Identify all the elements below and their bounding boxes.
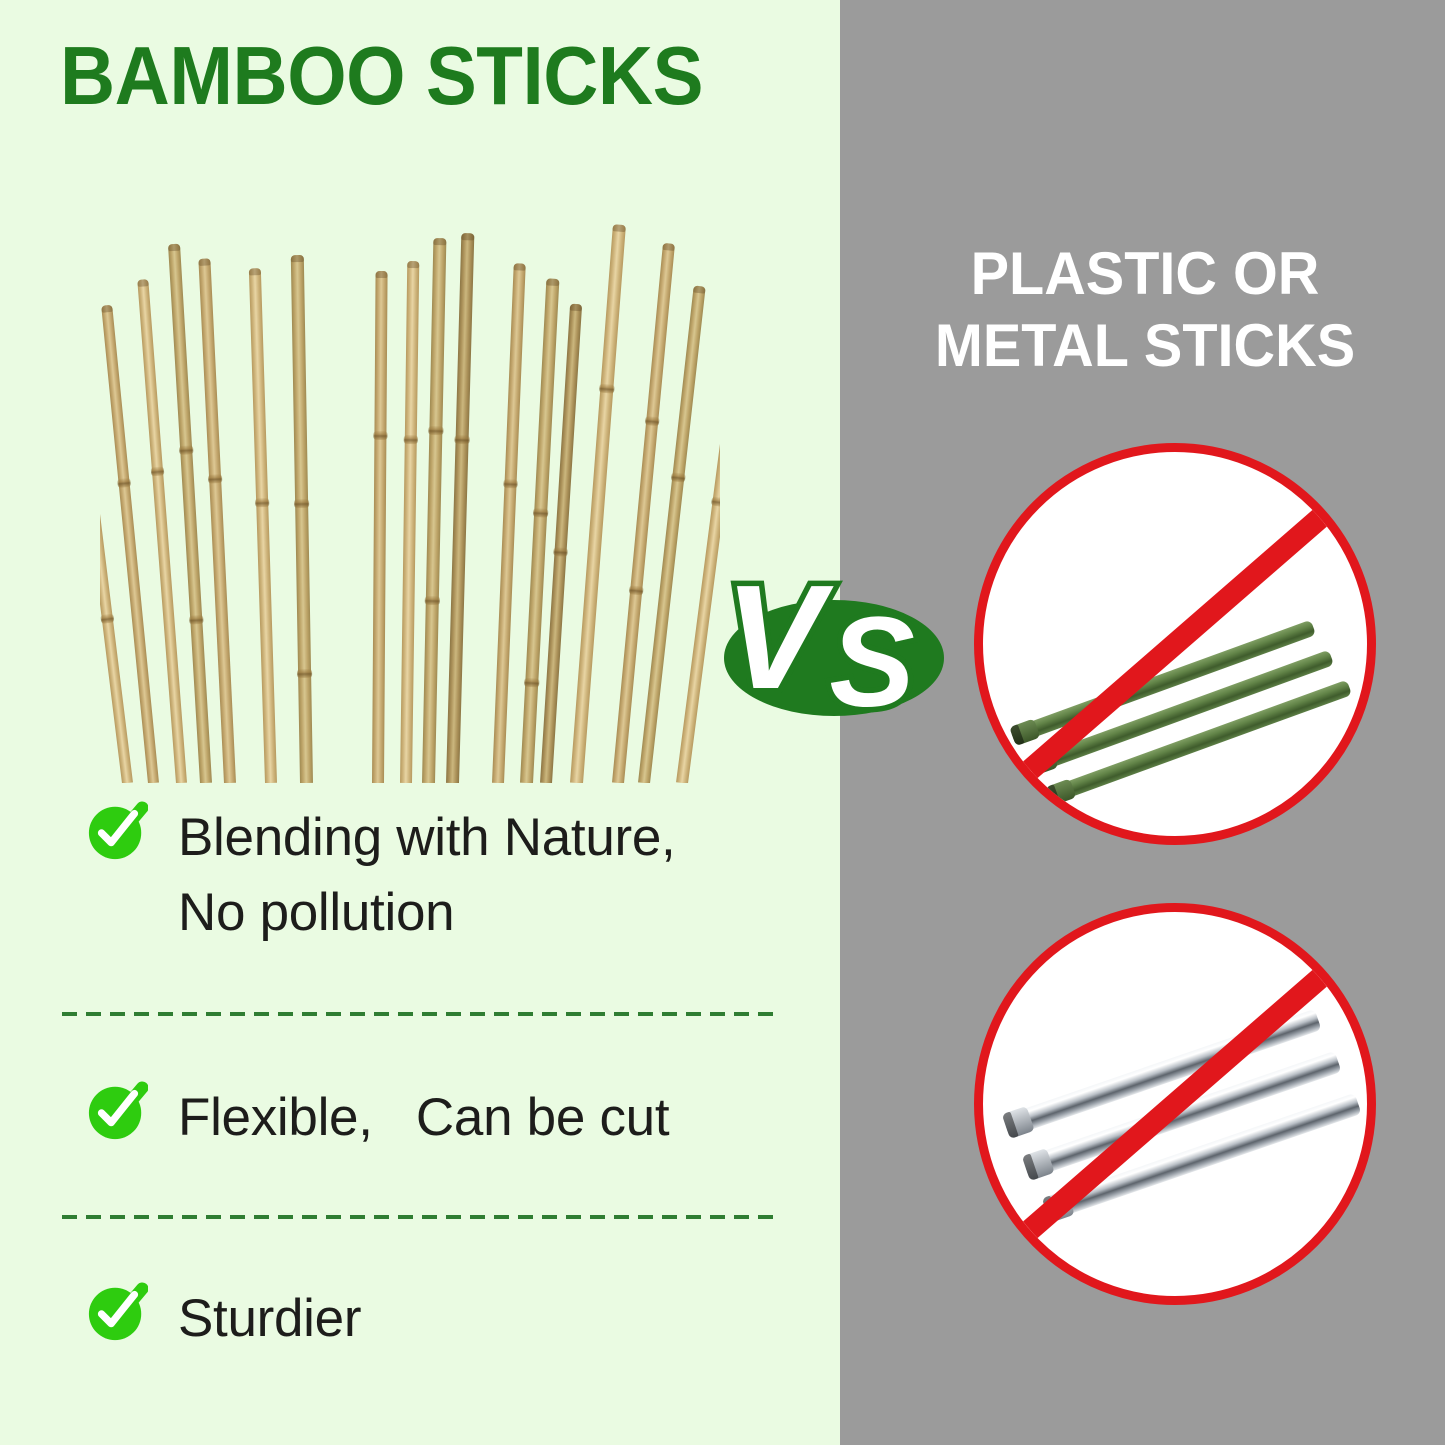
bamboo-stick-tip bbox=[101, 305, 113, 313]
bamboo-stick-tip bbox=[662, 243, 675, 251]
bamboo-stick-tip bbox=[291, 255, 304, 262]
bamboo-node bbox=[671, 472, 686, 483]
bamboo-stick bbox=[400, 261, 419, 783]
bamboo-node bbox=[297, 669, 312, 678]
bamboo-node bbox=[179, 445, 194, 455]
bamboo-node bbox=[645, 416, 660, 426]
bamboo-stick bbox=[446, 233, 474, 783]
check-circle-icon bbox=[86, 1281, 148, 1343]
bamboo-stick-tip bbox=[612, 224, 625, 232]
bamboo-stick-tip bbox=[693, 285, 706, 293]
bamboo-node bbox=[189, 615, 204, 625]
bamboo-node bbox=[373, 431, 387, 440]
rod-ferrule bbox=[1009, 718, 1040, 746]
bamboo-sticks-photo bbox=[100, 158, 720, 783]
bamboo-stick bbox=[422, 238, 446, 783]
bamboo-stick bbox=[372, 271, 388, 783]
list-item-label: Flexible, Can be cut bbox=[62, 1080, 782, 1155]
page-title-bamboo: BAMBOO STICKS bbox=[60, 31, 703, 121]
page-title-line2: METAL STICKS bbox=[867, 310, 1424, 382]
bamboo-stick bbox=[492, 263, 526, 783]
bamboo-stage bbox=[100, 158, 720, 783]
bamboo-node bbox=[553, 547, 568, 557]
infographic-root: BAMBOO STICKS Blending with Nature, No p… bbox=[0, 0, 1445, 1445]
versus-badge: V S bbox=[722, 536, 946, 722]
bamboo-stick-tip bbox=[168, 244, 180, 252]
bamboo-node bbox=[533, 508, 548, 518]
rod-ferrule bbox=[1045, 778, 1076, 806]
benefits-list: Blending with Nature, No pollution Flexi… bbox=[62, 800, 782, 1356]
bamboo-node bbox=[629, 585, 644, 595]
tube-opening bbox=[1002, 1106, 1035, 1139]
list-item: Sturdier bbox=[62, 1281, 782, 1356]
bamboo-stick bbox=[612, 243, 675, 783]
bamboo-node bbox=[151, 466, 165, 476]
bamboo-stick-tip bbox=[546, 278, 559, 286]
check-circle-icon bbox=[86, 800, 148, 862]
bamboo-node bbox=[711, 496, 720, 507]
metal-sticks-prohibited bbox=[974, 903, 1376, 1305]
bamboo-stick-tip bbox=[461, 233, 474, 240]
check-circle-icon bbox=[86, 1080, 148, 1142]
bamboo-node bbox=[404, 435, 418, 444]
tube-opening bbox=[1022, 1148, 1055, 1181]
list-item-label: Sturdier bbox=[62, 1281, 782, 1356]
bamboo-stick bbox=[249, 268, 277, 783]
bamboo-node bbox=[100, 613, 114, 624]
bamboo-stick bbox=[291, 255, 313, 783]
bamboo-stick-tip bbox=[513, 263, 525, 270]
bamboo-node bbox=[117, 478, 131, 488]
page-title-alternatives: PLASTIC OR METAL STICKS bbox=[867, 238, 1424, 382]
bamboo-node bbox=[255, 498, 269, 507]
svg-text:V: V bbox=[725, 555, 835, 720]
bamboo-stick-tip bbox=[198, 258, 210, 266]
bamboo-stick-tip bbox=[376, 271, 388, 278]
bamboo-node bbox=[599, 384, 615, 394]
bamboo-node bbox=[208, 474, 222, 484]
bamboo-node bbox=[524, 678, 539, 688]
bamboo-stick bbox=[676, 296, 720, 783]
bamboo-stick-tip bbox=[433, 238, 446, 245]
plastic-sticks-prohibited bbox=[974, 443, 1376, 845]
bamboo-stick-tip bbox=[137, 279, 149, 287]
bamboo-node bbox=[454, 435, 469, 444]
list-item: Blending with Nature, No pollution bbox=[62, 800, 782, 950]
bamboo-node bbox=[503, 479, 517, 489]
bamboo-node bbox=[428, 426, 443, 435]
bamboo-stick-tip bbox=[249, 268, 261, 275]
bamboo-node bbox=[294, 499, 309, 508]
list-item-label: Blending with Nature, No pollution bbox=[62, 800, 782, 950]
page-title-line1: PLASTIC OR bbox=[867, 238, 1424, 310]
svg-text:S: S bbox=[829, 591, 914, 722]
bamboo-node bbox=[425, 596, 440, 605]
bamboo-stick-tip bbox=[407, 261, 419, 268]
bamboo-stick-tip bbox=[570, 304, 582, 312]
list-item: Flexible, Can be cut bbox=[62, 1080, 782, 1155]
